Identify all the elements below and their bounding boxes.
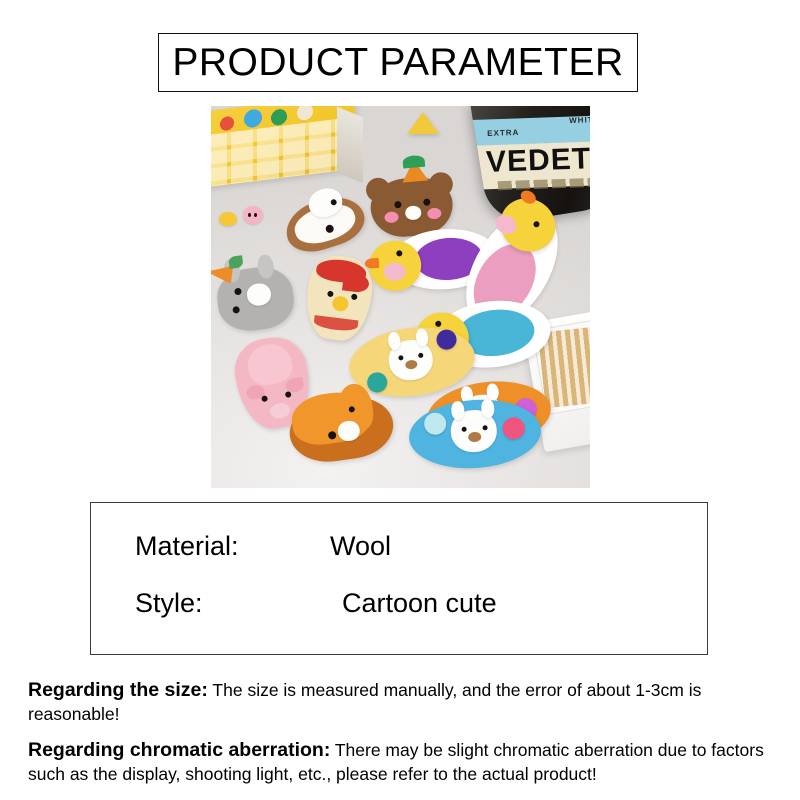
note-chromatic-heading: Regarding chromatic aberration:: [28, 739, 330, 761]
parameter-box: Material: Wool Style: Cartoon cute: [90, 502, 708, 655]
style-label: Style:: [135, 588, 342, 619]
bottle-label-main: VEDETT: [486, 142, 590, 180]
brown-bear-party-hat-clip: [365, 158, 457, 239]
note-size-heading: Regarding the size:: [28, 679, 208, 701]
grey-rabbit-carrot-clip: [211, 253, 301, 337]
product-photo: EXTRA WHITE VEDETT: [211, 106, 590, 488]
material-value: Wool: [330, 531, 391, 562]
style-value: Cartoon cute: [342, 588, 497, 619]
chick-button-prop: [219, 212, 237, 226]
notes-section: Regarding the size: The size is measured…: [28, 678, 776, 799]
snack-box-flap: [337, 107, 363, 184]
yellow-pyramid-prop: [407, 112, 439, 134]
product-parameter-page: PRODUCT PARAMETER EXTRA WHITE VEDETT: [0, 0, 800, 800]
bottle-label-extra: EXTRA: [487, 128, 519, 138]
pig-button-prop: [243, 206, 263, 224]
note-chromatic-aberration: Regarding chromatic aberration: There ma…: [28, 738, 776, 785]
note-size: Regarding the size: The size is measured…: [28, 678, 776, 725]
blue-rabbit-pompom-clip-main: [407, 395, 543, 472]
page-title-box: PRODUCT PARAMETER: [158, 33, 638, 92]
material-label: Material:: [135, 531, 330, 562]
page-title: PRODUCT PARAMETER: [172, 43, 623, 82]
parameter-row-style: Style: Cartoon cute: [135, 588, 497, 619]
bottle-label-white: WHITE: [569, 115, 590, 125]
orange-squirrel-slipper-clip: [284, 381, 398, 471]
cream-red-chicken-slipper-clip: [302, 252, 376, 343]
parameter-row-material: Material: Wool: [135, 531, 391, 562]
